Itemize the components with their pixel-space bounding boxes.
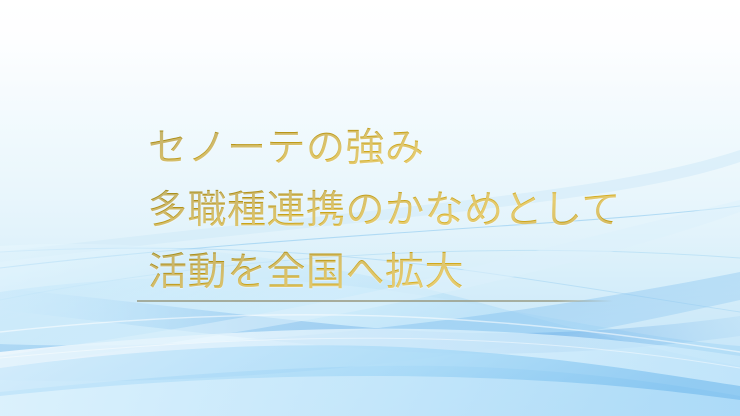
headline-line-2: 多職種連携のかなめとして <box>148 180 688 242</box>
headline-line-3: 活動を全国へ拡大 <box>148 242 688 304</box>
slide-canvas: セノーテの強み 多職種連携のかなめとして 活動を全国へ拡大 <box>0 0 740 416</box>
headline-line-1: セノーテの強み <box>148 118 688 180</box>
headline-block: セノーテの強み 多職種連携のかなめとして 活動を全国へ拡大 <box>148 118 688 304</box>
